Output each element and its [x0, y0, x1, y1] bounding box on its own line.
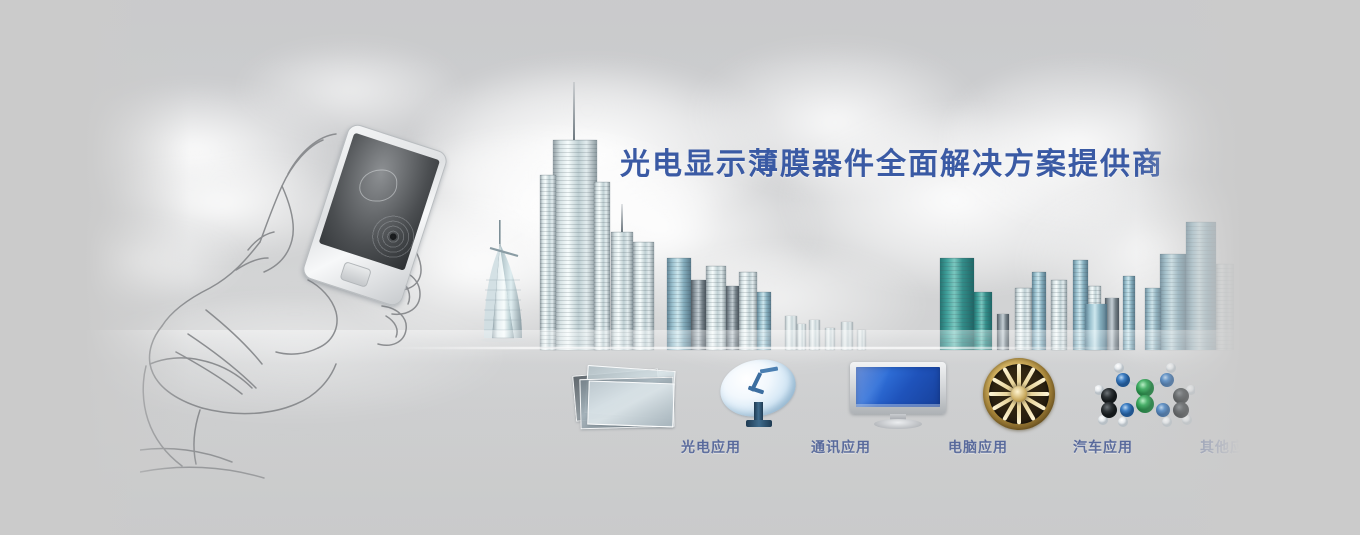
page-title: 光电显示薄膜器件全面解决方案提供商: [620, 139, 1164, 183]
banner-artwork: 光电应用 通讯应用 电脑应用: [85, 0, 1240, 535]
glass-film-panels-icon: [572, 366, 682, 428]
computer-monitor-icon: [850, 362, 946, 430]
application-icons: 光电应用 通讯应用 电脑应用: [85, 0, 1240, 535]
app-label-3: 汽车应用: [1073, 437, 1133, 457]
app-label-2: 电脑应用: [948, 437, 1008, 457]
app-label-4: 其他应用: [1200, 437, 1240, 457]
satellite-dish-icon: [710, 358, 806, 430]
app-label-1: 通讯应用: [811, 437, 871, 457]
molecule-icon: [1095, 358, 1195, 430]
alloy-wheel-icon: [983, 358, 1057, 432]
banner-stage: 光电应用 通讯应用 电脑应用: [0, 0, 1360, 535]
app-label-0: 光电应用: [681, 437, 741, 457]
